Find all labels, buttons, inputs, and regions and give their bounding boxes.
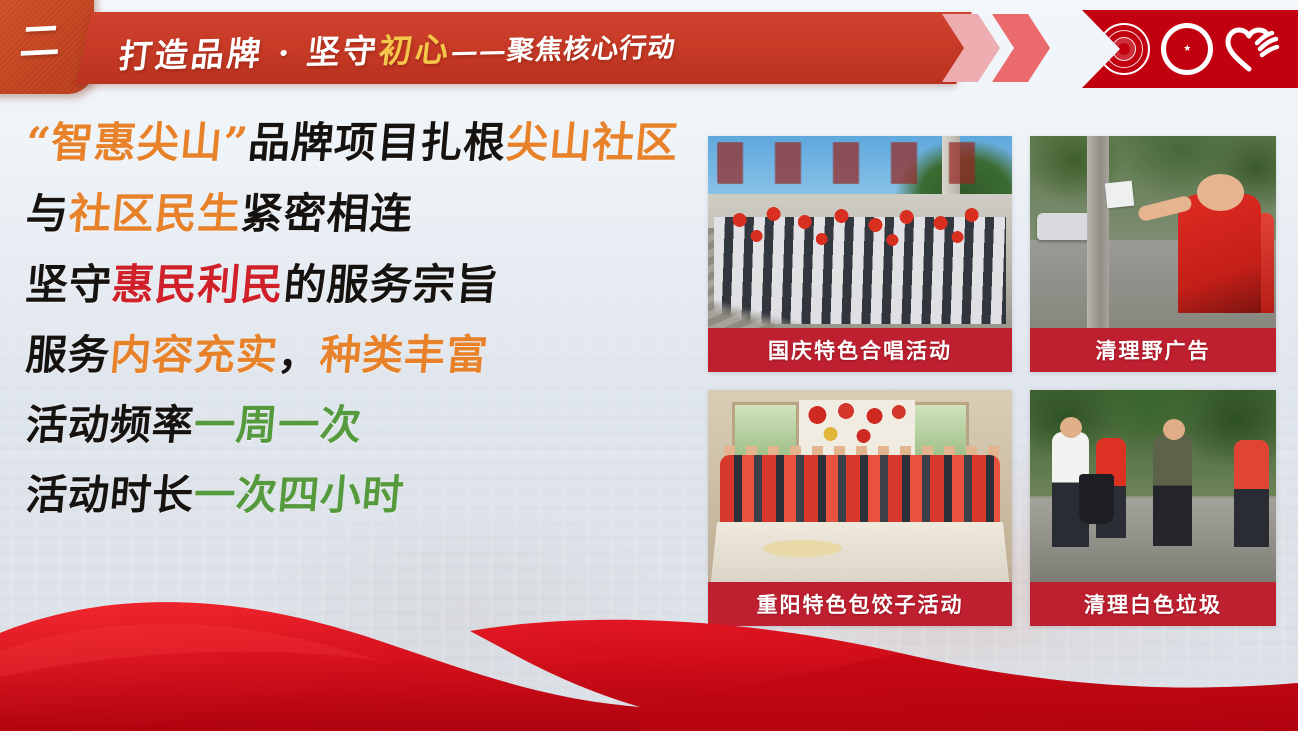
chevron-arrow-mid-icon <box>992 14 1050 82</box>
body-line-5-seg-2: 一周一次 <box>192 401 364 449</box>
title-gold-part: 初心 <box>377 30 454 70</box>
title-banner-text-wrap: 打造品牌 · 坚守初心——聚焦核心行动 <box>120 12 940 84</box>
body-line-1-seg-1: “智惠尖山” <box>24 118 251 167</box>
photo-image-chorus <box>708 136 1012 328</box>
body-line-4-seg-4: 种类丰富 <box>318 331 490 379</box>
body-line-6: 活动时长一次四小时 <box>24 475 688 516</box>
body-line-1-seg-2: 品牌项目扎根 <box>246 118 508 167</box>
red-silk-ribbon-decoration <box>0 591 1298 731</box>
body-text-column: “智惠尖山”品牌项目扎根尖山社区 与社区民生紧密相连 坚守惠民利民的服务宗旨 服… <box>26 122 686 516</box>
body-line-4: 服务内容充实，种类丰富 <box>24 335 688 376</box>
slide-header: 二 打造品牌 · 坚守初心——聚焦核心行动 ★ <box>0 0 1298 100</box>
body-line-3-seg-1: 坚守 <box>24 260 114 309</box>
body-line-5-seg-1: 活动频率 <box>24 401 196 449</box>
body-line-4-seg-2: 内容充实 <box>108 331 280 379</box>
slide-title: 打造品牌 · 坚守初心——聚焦核心行动 <box>116 18 679 78</box>
logo-band: ★ <box>1040 10 1298 88</box>
photo-card-ads[interactable]: 清理野广告 <box>1030 136 1276 372</box>
photo-caption-bar-ads: 清理野广告 <box>1030 328 1276 372</box>
body-line-5: 活动频率一周一次 <box>24 405 688 446</box>
body-line-6-seg-1: 活动时长 <box>24 471 196 519</box>
body-line-2: 与社区民生紧密相连 <box>24 193 688 235</box>
body-line-2-seg-3: 紧密相连 <box>239 189 415 238</box>
photo-caption-chorus: 国庆特色合唱活动 <box>768 335 952 365</box>
title-dot: · <box>276 33 295 72</box>
title-part-2: 坚守 <box>305 31 382 71</box>
slide-root: 二 打造品牌 · 坚守初心——聚焦核心行动 ★ <box>0 0 1298 731</box>
body-line-3: 坚守惠民利民的服务宗旨 <box>24 264 688 306</box>
body-line-1-seg-3: 尖山社区 <box>504 118 680 167</box>
body-line-2-seg-1: 与 <box>24 189 71 238</box>
body-line-2-seg-2: 社区民生 <box>67 189 243 238</box>
body-line-6-seg-2: 一次四小时 <box>192 471 406 519</box>
title-dash: —— <box>449 36 509 68</box>
body-line-3-seg-3: 的服务宗旨 <box>282 260 501 309</box>
photo-image-dumpling <box>708 390 1012 582</box>
body-line-4-seg-1: 服务 <box>24 331 112 379</box>
photo-caption-ads: 清理野广告 <box>1096 335 1211 365</box>
photo-image-ads <box>1030 136 1276 328</box>
photo-card-chorus[interactable]: 国庆特色合唱活动 <box>708 136 1012 372</box>
photo-image-litter <box>1030 390 1276 582</box>
title-part-1: 打造品牌 <box>117 34 266 76</box>
title-subtitle: 聚焦核心行动 <box>505 32 677 67</box>
section-number-text: 二 <box>18 21 61 63</box>
volunteer-association-seal-icon: ★ <box>1161 23 1213 75</box>
photo-caption-bar-chorus: 国庆特色合唱活动 <box>708 328 1012 372</box>
dalian-university-of-technology-seal-icon <box>1098 23 1150 75</box>
heart-hand-volunteer-icon <box>1224 25 1280 73</box>
body-line-3-seg-2: 惠民利民 <box>110 260 286 309</box>
photo-grid: 国庆特色合唱活动 清理野广告 <box>708 136 1276 628</box>
volunteer-association-seal-label: ★ <box>1165 27 1209 71</box>
body-line-1: “智惠尖山”品牌项目扎根尖山社区 <box>24 122 688 164</box>
body-line-4-seg-3: ， <box>276 331 322 379</box>
